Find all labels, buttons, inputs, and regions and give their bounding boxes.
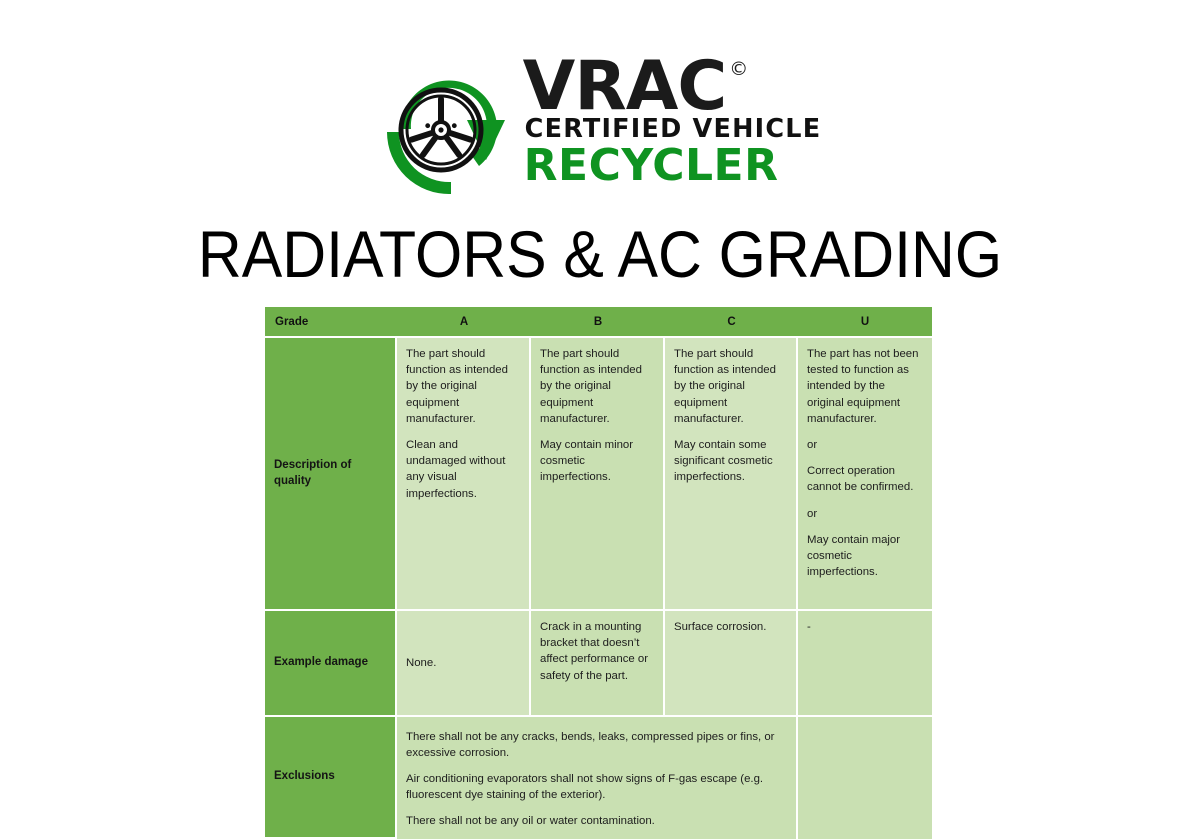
cell-description-u-p1: The part has not been tested to function… — [807, 346, 924, 427]
row-label-exclusions: Exclusions — [265, 717, 397, 839]
logo-inner: V R AC © CERTIFIED VEHICLE RECYCLER — [379, 58, 822, 196]
recycling-wheel-icon — [379, 60, 519, 198]
table-header-row: Grade A B C U — [265, 307, 932, 338]
logo-wordmark: V R AC © CERTIFIED VEHICLE RECYCLER — [523, 58, 822, 188]
cell-description-b-p2: May contain minor cosmetic imperfections… — [540, 437, 655, 486]
cell-exclusions-p3: There shall not be any oil or water cont… — [406, 813, 786, 829]
cell-example-b-p1: Crack in a mounting bracket that doesn’t… — [540, 619, 655, 684]
cell-description-u-p4: or — [807, 506, 924, 522]
row-label-example-damage: Example damage — [265, 611, 397, 717]
cell-description-b: The part should function as intended by … — [531, 338, 665, 611]
cell-exclusions-span: There shall not be any cracks, bends, le… — [397, 717, 798, 839]
logo-tagline-certified-vehicle: CERTIFIED VEHICLE — [525, 117, 822, 143]
cell-description-c: The part should function as intended by … — [665, 338, 798, 611]
logo-line-vrac: V R AC © — [523, 58, 746, 115]
cell-example-a: None. — [397, 611, 531, 717]
table-row-exclusions: Exclusions There shall not be any cracks… — [265, 717, 932, 839]
cell-example-c: Surface corrosion. — [665, 611, 798, 717]
cell-exclusions-p2: Air conditioning evaporators shall not s… — [406, 771, 786, 803]
cell-example-c-p1: Surface corrosion. — [674, 619, 788, 635]
cell-exclusions-u — [798, 717, 932, 839]
cell-example-u: - — [798, 611, 932, 717]
cell-example-b: Crack in a mounting bracket that doesn’t… — [531, 611, 665, 717]
header-grade-b: B — [531, 307, 665, 338]
cell-description-u-p3: Correct operation cannot be confirmed. — [807, 463, 924, 495]
logo-tagline-recycler: RECYCLER — [524, 144, 779, 188]
cell-description-c-p1: The part should function as intended by … — [674, 346, 788, 427]
logo-letters-ac: AC — [626, 58, 727, 115]
cell-description-u-p2: or — [807, 437, 924, 453]
table-row-description-of-quality: Description of quality The part should f… — [265, 338, 932, 611]
page-title: RADIATORS & AC GRADING — [48, 216, 1152, 292]
cell-description-u-p5: May contain major cosmetic imperfections… — [807, 532, 924, 581]
header-grade-a: A — [397, 307, 531, 338]
header-grade-u: U — [798, 307, 932, 338]
table-row-example-damage: Example damage None. Crack in a mounting… — [265, 611, 932, 717]
row-label-description-of-quality: Description of quality — [265, 338, 397, 611]
cell-description-a-p2: Clean and undamaged without any visual i… — [406, 437, 521, 502]
cell-description-u: The part has not been tested to function… — [798, 338, 932, 611]
cell-description-a-p1: The part should function as intended by … — [406, 346, 521, 427]
header-grade-c: C — [665, 307, 798, 338]
copyright-icon: © — [729, 62, 748, 78]
header-grade: Grade — [265, 307, 397, 338]
cell-example-u-p1: - — [807, 619, 924, 635]
cell-description-a: The part should function as intended by … — [397, 338, 531, 611]
cell-description-c-p2: May contain some significant cosmetic im… — [674, 437, 788, 486]
cell-example-a-p1: None. — [406, 655, 521, 671]
cell-exclusions-p1: There shall not be any cracks, bends, le… — [406, 729, 786, 761]
brand-logo: V R AC © CERTIFIED VEHICLE RECYCLER — [0, 58, 1200, 203]
grading-table: Grade A B C U Description of quality The… — [265, 307, 932, 839]
cell-description-b-p1: The part should function as intended by … — [540, 346, 655, 427]
logo-letter-v: V — [523, 58, 575, 115]
logo-letter-r: R — [574, 58, 625, 115]
